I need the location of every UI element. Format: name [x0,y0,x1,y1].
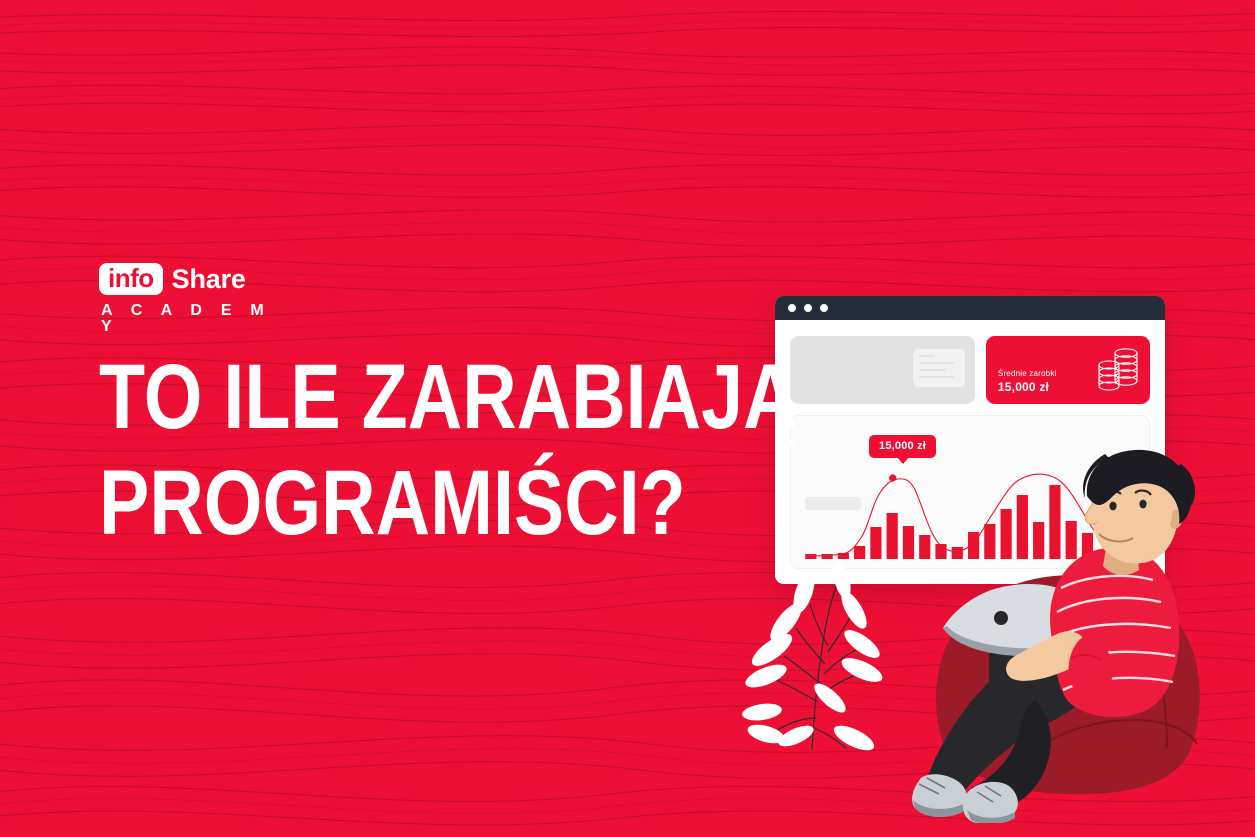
logo-info-text: info [108,265,154,291]
logo-share-text: Share [172,266,246,293]
headline-line-1: TO ILE ZARABIAJĄ [99,352,657,442]
placeholder-line [919,369,946,371]
placeholder-card [790,336,975,404]
logo-info-box: info [99,263,163,295]
window-dot-icon-2[interactable] [804,304,812,312]
coin-stack-icon [1096,346,1140,393]
stat-cards-row: Średnie zarobki 15,000 zł [790,336,1150,404]
window-dot-icon-1[interactable] [788,304,796,312]
headline-line-2: PROGRAMIŚCI? [99,458,657,548]
logo-wordmark-row: info Share [99,261,271,297]
banner-root: info Share A C A D E M Y TO ILE ZARABIAJ… [0,0,1255,837]
eye-left [1109,502,1116,511]
placeholder-line [919,376,954,378]
logo-academy-text: A C A D E M Y [101,303,271,335]
eye-right [1139,500,1146,509]
average-salary-card: Średnie zarobki 15,000 zł [986,336,1150,404]
white-leaf-branch-icon [726,552,906,752]
browser-titlebar [775,296,1165,320]
placeholder-line [919,355,935,357]
man-with-laptop-illustration [885,448,1225,823]
head [1083,450,1195,564]
placeholder-line [919,362,954,364]
window-dot-icon-3[interactable] [820,304,828,312]
page-title: TO ILE ZARABIAJĄ PROGRAMIŚCI? [99,352,779,548]
brand-logo[interactable]: info Share A C A D E M Y [99,261,271,335]
placeholder-inner-card [913,349,965,387]
